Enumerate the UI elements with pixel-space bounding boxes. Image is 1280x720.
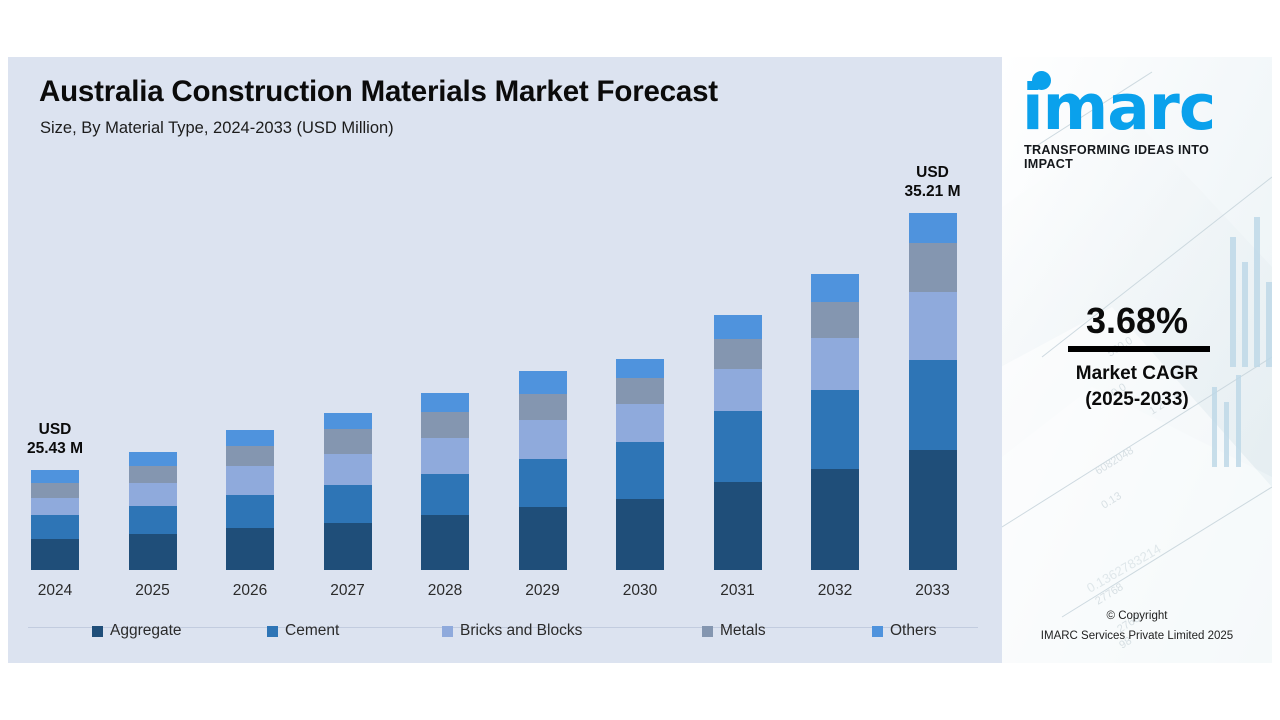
x-axis-label: 2025 — [113, 582, 193, 600]
legend-swatch-icon — [872, 626, 883, 637]
bar-segment — [616, 378, 664, 404]
stacked-bar[interactable] — [226, 430, 274, 570]
stacked-bar[interactable] — [811, 274, 859, 570]
legend-swatch-icon — [267, 626, 278, 637]
x-axis-label: 2033 — [893, 582, 973, 600]
bar-segment — [909, 243, 957, 292]
bar-segment — [31, 539, 79, 570]
stacked-bar[interactable] — [714, 315, 762, 570]
screenshot-root: Australia Construction Materials Market … — [0, 0, 1280, 720]
bar-segment — [226, 446, 274, 466]
stacked-bar[interactable] — [909, 213, 957, 570]
legend-item[interactable]: Aggregate — [92, 622, 182, 640]
bar-segment — [31, 483, 79, 498]
legend-swatch-icon — [92, 626, 103, 637]
bar-segment — [811, 469, 859, 570]
legend-swatch-icon — [442, 626, 453, 637]
bar-segment — [421, 412, 469, 439]
stacked-bar[interactable] — [324, 413, 372, 570]
bar-segment — [129, 466, 177, 482]
bar-segment — [519, 394, 567, 420]
chart-panel: Australia Construction Materials Market … — [8, 57, 1002, 663]
legend-label: Others — [890, 622, 937, 640]
bar-value-currency: USD — [5, 420, 105, 439]
x-axis-label: 2028 — [405, 582, 485, 600]
legend-item[interactable]: Cement — [267, 622, 339, 640]
bar-segment — [616, 442, 664, 499]
copyright-line-1: © Copyright — [1002, 606, 1272, 626]
x-axis-label: 2024 — [15, 582, 95, 600]
bar-segment — [811, 274, 859, 302]
bar-segment — [421, 393, 469, 412]
bar-segment — [519, 420, 567, 460]
stacked-bar[interactable] — [616, 359, 664, 570]
bar-segment — [324, 429, 372, 454]
bar-segment — [714, 411, 762, 482]
legend-label: Metals — [720, 622, 766, 640]
bar-segment — [226, 430, 274, 446]
bar-segment — [421, 474, 469, 515]
bar-segment — [31, 470, 79, 482]
legend-item[interactable]: Metals — [702, 622, 766, 640]
legend-swatch-icon — [702, 626, 713, 637]
bar-segment — [226, 495, 274, 528]
bar-segment — [616, 404, 664, 442]
copyright-line-2: IMARC Services Private Limited 2025 — [1002, 626, 1272, 646]
x-axis-label: 2032 — [795, 582, 875, 600]
bar-segment — [226, 528, 274, 570]
bar-value-label: USD35.21 M — [883, 163, 983, 201]
bar-segment — [324, 454, 372, 485]
bar-segment — [519, 371, 567, 393]
bar-segment — [811, 302, 859, 338]
bar-segment — [519, 459, 567, 507]
bar-segment — [909, 360, 957, 450]
legend-label: Bricks and Blocks — [460, 622, 582, 640]
bar-segment — [909, 213, 957, 243]
stacked-bar[interactable] — [421, 393, 469, 570]
legend-label: Cement — [285, 622, 339, 640]
bar-segment — [714, 482, 762, 570]
bar-segment — [324, 523, 372, 570]
cagr-value: 3.68% — [1002, 300, 1272, 342]
bar-value-amount: 35.21 M — [883, 182, 983, 201]
bar-segment — [616, 499, 664, 570]
legend-item[interactable]: Others — [872, 622, 937, 640]
bar-segment — [31, 498, 79, 514]
bar-segment — [31, 515, 79, 540]
bar-segment — [129, 483, 177, 506]
stacked-bar[interactable] — [519, 371, 567, 570]
bar-segment — [129, 506, 177, 535]
bar-segment — [519, 507, 567, 570]
bar-segment — [909, 450, 957, 571]
cagr-divider — [1068, 346, 1210, 352]
bar-value-label: USD25.43 M — [5, 420, 105, 458]
stacked-bar[interactable] — [129, 452, 177, 570]
stacked-bar[interactable] — [31, 470, 79, 570]
bar-value-currency: USD — [883, 163, 983, 182]
cagr-period: (2025-2033) — [1002, 389, 1272, 411]
x-axis-label: 2030 — [600, 582, 680, 600]
bar-segment — [909, 292, 957, 360]
bar-segment — [421, 515, 469, 570]
plot-area: 2024USD25.43 M20252026202720282029203020… — [8, 57, 1002, 663]
legend-label: Aggregate — [110, 622, 182, 640]
logo-dot-icon — [1032, 71, 1051, 90]
bar-segment — [421, 438, 469, 474]
bar-segment — [616, 359, 664, 378]
cagr-label: Market CAGR — [1002, 359, 1272, 389]
bar-segment — [129, 534, 177, 570]
logo-wordmark: imarc — [1022, 69, 1258, 147]
bar-segment — [324, 485, 372, 523]
bar-segment — [714, 339, 762, 369]
copyright-block: © Copyright IMARC Services Private Limit… — [1002, 606, 1272, 646]
bar-segment — [324, 413, 372, 429]
imarc-logo: imarc TRANSFORMING IDEAS INTO IMPACT — [1016, 69, 1258, 171]
legend-item[interactable]: Bricks and Blocks — [442, 622, 582, 640]
bar-segment — [714, 315, 762, 338]
brand-panel: 500.0 0.0 1 2 3 4 6082048 0.13 2768 2776… — [1002, 57, 1272, 663]
x-axis-label: 2027 — [308, 582, 388, 600]
logo-tagline: TRANSFORMING IDEAS INTO IMPACT — [1024, 143, 1258, 171]
x-axis-label: 2031 — [698, 582, 778, 600]
bar-segment — [811, 390, 859, 470]
x-axis-label: 2026 — [210, 582, 290, 600]
bar-segment — [714, 369, 762, 411]
x-axis-label: 2029 — [503, 582, 583, 600]
bar-segment — [811, 338, 859, 389]
bar-segment — [129, 452, 177, 467]
bar-value-amount: 25.43 M — [5, 439, 105, 458]
bar-segment — [226, 466, 274, 495]
